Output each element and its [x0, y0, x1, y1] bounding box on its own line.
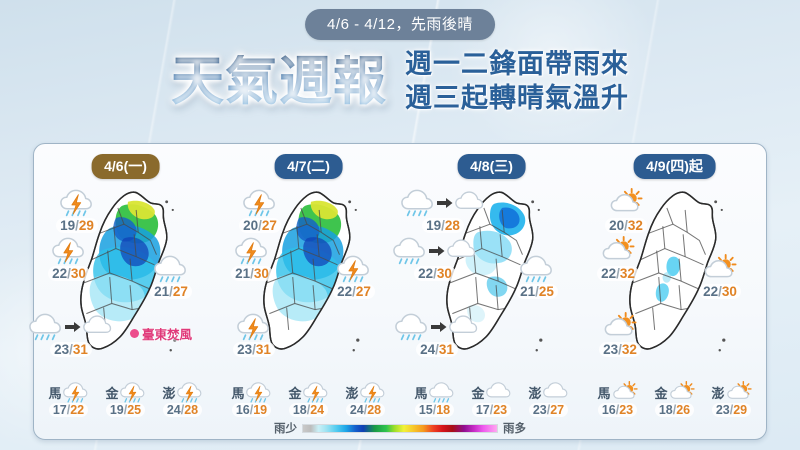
day-panel-1[interactable]: 4/6(一)19/2922/3021/2723/31臺東焚風馬17/22金19/…	[34, 144, 217, 439]
day-panel-3[interactable]: 4/8(三)19/2822/3021/2524/31馬15/18金17/23澎2…	[400, 144, 583, 439]
temp-high: 31	[73, 342, 88, 357]
island-temperature: 23/29	[712, 403, 751, 417]
forecast-card: 4/6(一)19/2922/3021/2723/31臺東焚風馬17/22金19/…	[33, 143, 767, 440]
dot-marker-icon	[130, 329, 139, 338]
island-temperature: 23/27	[529, 403, 568, 417]
temp-high: 27	[550, 403, 564, 417]
temperature-range: 21/25	[516, 284, 558, 299]
island-馬: 馬16/19	[225, 381, 279, 417]
island-金: 金19/25	[99, 381, 153, 417]
day-label: 4/7(二)	[274, 154, 343, 179]
arrow-right-icon	[437, 197, 453, 209]
temp-high: 23	[493, 403, 507, 417]
temp-low: 19	[426, 218, 441, 233]
weather-icons	[52, 236, 86, 266]
temp-low: 19	[60, 218, 75, 233]
weather-icons	[520, 254, 554, 284]
island-name: 澎	[528, 383, 541, 402]
temp-low: 23	[237, 342, 252, 357]
temp-low: 17	[53, 403, 67, 417]
temp-high: 25	[127, 403, 141, 417]
rain-icon	[520, 254, 554, 283]
foehn-annotation: 臺東焚風	[130, 324, 192, 343]
island-header: 金	[105, 381, 145, 403]
weather-icons	[235, 236, 269, 266]
forecast-spot-west: 22/30	[30, 236, 108, 281]
island-temperature: 18/24	[289, 403, 328, 417]
thunderstorm-icon	[60, 188, 94, 217]
temperature-range: 20/32	[605, 218, 647, 233]
temp-low: 17	[476, 403, 490, 417]
rain-icon	[401, 188, 435, 217]
temp-high: 28	[367, 403, 381, 417]
temp-low: 18	[659, 403, 673, 417]
weather-icons	[243, 188, 277, 218]
rain-icon	[429, 381, 455, 403]
forecast-spot-north: 19/29	[38, 188, 116, 233]
temp-high: 31	[439, 342, 454, 357]
island-馬: 馬16/23	[591, 381, 645, 417]
rain-icon	[29, 312, 63, 341]
forecast-spot-north: 20/27	[221, 188, 299, 233]
temperature-range: 21/27	[150, 284, 192, 299]
temp-low: 23	[533, 403, 547, 417]
island-name: 馬	[48, 383, 61, 402]
forecast-spot-south: 24/31	[398, 312, 476, 357]
sun-cloud-icon	[609, 188, 643, 217]
thunderstorm-icon	[243, 188, 277, 217]
island-name: 澎	[162, 383, 175, 402]
temperature-range: 22/32	[597, 266, 639, 281]
weather-icons	[29, 312, 113, 342]
day-panel-4[interactable]: 4/9(四)起20/3222/3222/3023/32馬16/23金18/26澎…	[583, 144, 766, 439]
island-name: 金	[654, 383, 667, 402]
temp-low: 15	[419, 403, 433, 417]
temp-high: 32	[620, 266, 635, 281]
island-name: 金	[288, 383, 301, 402]
cloud-icon	[449, 314, 479, 340]
sun-cloud-icon	[601, 236, 635, 265]
temp-high: 22	[70, 403, 84, 417]
outlying-islands-row: 馬17/22金19/25澎24/28	[34, 381, 217, 417]
weather-icons	[609, 188, 643, 218]
temp-high: 27	[173, 284, 188, 299]
temp-low: 24	[350, 403, 364, 417]
forecast-spot-south: 23/31	[215, 312, 293, 357]
rain-icon	[395, 312, 429, 341]
sun-cloud-icon	[603, 312, 637, 341]
thunderstorm-icon	[177, 381, 203, 403]
island-name: 馬	[597, 383, 610, 402]
subtitle: 週一二鋒面帶雨來 週三起轉晴氣溫升	[405, 49, 629, 115]
island-header: 馬	[597, 381, 637, 403]
temp-high: 27	[262, 218, 277, 233]
temperature-range: 23/32	[599, 342, 641, 357]
temperature-range: 22/30	[414, 266, 456, 281]
page-title: 天氣週報	[171, 55, 387, 108]
legend-gradient-bar	[302, 424, 498, 433]
weather-icons	[393, 236, 477, 266]
temp-low: 20	[609, 218, 624, 233]
outlying-islands-row: 馬16/23金18/26澎23/29	[583, 381, 766, 417]
temp-high: 25	[539, 284, 554, 299]
temp-high: 30	[254, 266, 269, 281]
temp-high: 29	[733, 403, 747, 417]
temp-high: 28	[184, 403, 198, 417]
temp-low: 19	[110, 403, 124, 417]
forecast-spot-south: 23/32	[581, 312, 659, 357]
forecast-spot-east: 21/27	[132, 254, 210, 299]
island-header: 馬	[414, 381, 454, 403]
temp-low: 16	[602, 403, 616, 417]
temp-low: 23	[54, 342, 69, 357]
temp-low: 23	[603, 342, 618, 357]
island-馬: 馬17/22	[42, 381, 96, 417]
temp-low: 21	[235, 266, 250, 281]
island-temperature: 16/19	[232, 403, 271, 417]
temp-low: 21	[520, 284, 535, 299]
legend-high-label: 雨多	[503, 420, 526, 436]
thunderstorm-icon	[120, 381, 146, 403]
cloud-icon	[455, 190, 485, 216]
temperature-range: 22/30	[699, 284, 741, 299]
temp-low: 24	[420, 342, 435, 357]
temp-low: 21	[154, 284, 169, 299]
day-panel-2[interactable]: 4/7(二)20/2721/3022/2723/31馬16/19金18/24澎2…	[217, 144, 400, 439]
temperature-range: 24/31	[416, 342, 458, 357]
temp-low: 22	[601, 266, 616, 281]
island-temperature: 17/22	[49, 403, 88, 417]
temperature-range: 22/27	[333, 284, 375, 299]
weather-icons	[401, 188, 485, 218]
island-temperature: 17/23	[472, 403, 511, 417]
cloud-icon	[447, 238, 477, 264]
thunderstorm-icon	[235, 236, 269, 265]
island-header: 澎	[711, 381, 751, 403]
thunderstorm-icon	[52, 236, 86, 265]
temp-low: 24	[167, 403, 181, 417]
island-金: 金18/24	[282, 381, 336, 417]
weather-icons	[601, 236, 635, 266]
island-澎: 澎24/28	[156, 381, 210, 417]
temp-low: 18	[293, 403, 307, 417]
island-header: 金	[654, 381, 694, 403]
rainfall-legend: 雨少雨多	[274, 420, 526, 436]
cloud-icon	[543, 381, 569, 403]
weather-icons	[60, 188, 94, 218]
outlying-islands-row: 馬16/19金18/24澎24/28	[217, 381, 400, 417]
island-header: 馬	[231, 381, 271, 403]
sun-cloud-icon	[726, 381, 752, 403]
island-澎: 澎23/29	[705, 381, 759, 417]
island-header: 澎	[162, 381, 202, 403]
island-name: 澎	[711, 383, 724, 402]
forecast-spot-east: 22/30	[681, 254, 759, 299]
island-name: 澎	[345, 383, 358, 402]
island-temperature: 24/28	[163, 403, 202, 417]
day-label: 4/6(一)	[91, 154, 160, 179]
arrow-right-icon	[429, 245, 445, 257]
island-temperature: 16/23	[598, 403, 637, 417]
thunderstorm-icon	[237, 312, 271, 341]
temp-high: 18	[436, 403, 450, 417]
forecast-spot-west: 22/30	[396, 236, 474, 281]
temp-high: 24	[310, 403, 324, 417]
weather-icons	[395, 312, 479, 342]
temperature-range: 20/27	[239, 218, 281, 233]
temp-high: 27	[356, 284, 371, 299]
temp-high: 31	[256, 342, 271, 357]
temp-high: 26	[676, 403, 690, 417]
island-name: 馬	[231, 383, 244, 402]
temp-high: 30	[71, 266, 86, 281]
thunderstorm-icon	[337, 254, 371, 283]
temperature-range: 21/30	[231, 266, 273, 281]
temp-low: 22	[703, 284, 718, 299]
island-temperature: 18/26	[655, 403, 694, 417]
temp-low: 20	[243, 218, 258, 233]
temp-low: 22	[418, 266, 433, 281]
island-金: 金18/26	[648, 381, 702, 417]
day-label: 4/8(三)	[457, 154, 526, 179]
temp-high: 30	[722, 284, 737, 299]
temp-high: 29	[79, 218, 94, 233]
temperature-range: 19/29	[56, 218, 98, 233]
cloud-icon	[83, 314, 113, 340]
island-header: 金	[471, 381, 511, 403]
temp-low: 22	[337, 284, 352, 299]
temp-high: 32	[622, 342, 637, 357]
foehn-label: 臺東焚風	[142, 324, 192, 343]
temperature-range: 22/30	[48, 266, 90, 281]
temp-high: 28	[445, 218, 460, 233]
island-name: 馬	[414, 383, 427, 402]
temp-high: 23	[619, 403, 633, 417]
island-header: 澎	[345, 381, 385, 403]
subtitle-line-2: 週三起轉晴氣溫升	[405, 83, 629, 115]
arrow-right-icon	[65, 321, 81, 333]
sun-cloud-icon	[612, 381, 638, 403]
outlying-islands-row: 馬15/18金17/23澎23/27	[400, 381, 583, 417]
island-馬: 馬15/18	[408, 381, 462, 417]
island-header: 金	[288, 381, 328, 403]
thunderstorm-icon	[246, 381, 272, 403]
temperature-range: 19/28	[422, 218, 464, 233]
cloud-icon	[486, 381, 512, 403]
temp-high: 30	[437, 266, 452, 281]
temp-high: 32	[628, 218, 643, 233]
island-temperature: 15/18	[415, 403, 454, 417]
island-temperature: 19/25	[106, 403, 145, 417]
arrow-right-icon	[431, 321, 447, 333]
forecast-spot-east: 21/25	[498, 254, 576, 299]
forecast-spot-east: 22/27	[315, 254, 393, 299]
weather-icons	[703, 254, 737, 284]
island-澎: 澎24/28	[339, 381, 393, 417]
temp-low: 23	[716, 403, 730, 417]
island-name: 金	[105, 383, 118, 402]
forecast-spot-west: 21/30	[213, 236, 291, 281]
sun-cloud-icon	[669, 381, 695, 403]
thunderstorm-icon	[63, 381, 89, 403]
rain-icon	[393, 236, 427, 265]
rain-icon	[154, 254, 188, 283]
island-金: 金17/23	[465, 381, 519, 417]
weather-icons	[603, 312, 637, 342]
thunderstorm-icon	[360, 381, 386, 403]
thunderstorm-icon	[303, 381, 329, 403]
weather-icons	[237, 312, 271, 342]
forecast-spot-south: 23/31	[32, 312, 110, 357]
forecast-spot-west: 22/32	[579, 236, 657, 281]
temp-low: 16	[236, 403, 250, 417]
temperature-range: 23/31	[50, 342, 92, 357]
island-澎: 澎23/27	[522, 381, 576, 417]
island-temperature: 24/28	[346, 403, 385, 417]
island-name: 金	[471, 383, 484, 402]
forecast-spot-north: 19/28	[404, 188, 482, 233]
legend-low-label: 雨少	[274, 420, 297, 436]
island-header: 馬	[48, 381, 88, 403]
title-row: 天氣週報 週一二鋒面帶雨來 週三起轉晴氣溫升	[0, 49, 800, 115]
subtitle-line-1: 週一二鋒面帶雨來	[405, 49, 629, 81]
sun-cloud-icon	[703, 254, 737, 283]
weather-icons	[337, 254, 371, 284]
day-label: 4/9(四)起	[633, 154, 716, 179]
temperature-range: 23/31	[233, 342, 275, 357]
island-header: 澎	[528, 381, 568, 403]
temp-high: 19	[253, 403, 267, 417]
date-range-banner: 4/6 - 4/12，先雨後晴	[305, 9, 495, 40]
weather-icons	[154, 254, 188, 284]
temp-low: 22	[52, 266, 67, 281]
forecast-spot-north: 20/32	[587, 188, 665, 233]
